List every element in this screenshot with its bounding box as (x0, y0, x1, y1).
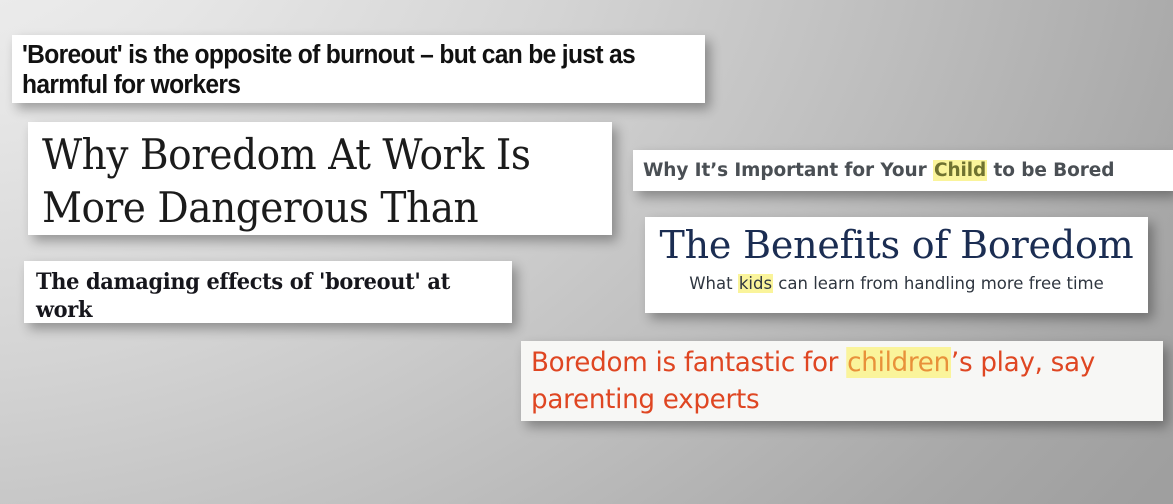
headline-text: Boredom is fantastic for children’s play… (531, 344, 1134, 418)
clipping-boredom-dangerous: Why Boredom At Work Is More Dangerous Th… (28, 122, 612, 235)
headline-text: 'Boreout' is the opposite of burnout – b… (22, 40, 671, 100)
headline-text: The damaging effects of 'boreout' at wor… (36, 268, 477, 323)
headline-collage-canvas: 'Boreout' is the opposite of burnout – b… (0, 0, 1173, 504)
headline-text: Why Boredom At Work Is More Dangerous Th… (42, 128, 559, 235)
headline-text: Why It’s Important for Your Child to be … (643, 159, 1114, 183)
highlight-children: children (846, 347, 951, 378)
highlight-kids: kids (738, 274, 773, 293)
clipping-benefits-boredom: The Benefits of Boredom What kids can le… (645, 217, 1148, 313)
clipping-damaging-effects: The damaging effects of 'boreout' at wor… (24, 261, 512, 323)
subheadline-segment-before: What (689, 274, 738, 293)
headline-segment-after: to be Bored (987, 160, 1114, 181)
highlight-child: Child (933, 160, 987, 181)
clipping-boreout-opposite: 'Boreout' is the opposite of burnout – b… (12, 35, 705, 103)
subheadline-segment-after: can learn from handling more free time (773, 274, 1104, 293)
headline-segment-before: Boredom is fantastic for (531, 347, 846, 378)
headline-segment-before: Why It’s Important for Your (643, 160, 933, 181)
subheadline-text: What kids can learn from handling more f… (655, 272, 1138, 296)
headline-text: The Benefits of Boredom (655, 221, 1138, 269)
clipping-fantastic-play: Boredom is fantastic for children’s play… (521, 341, 1163, 421)
clipping-important-child: Why It’s Important for Your Child to be … (633, 150, 1173, 191)
